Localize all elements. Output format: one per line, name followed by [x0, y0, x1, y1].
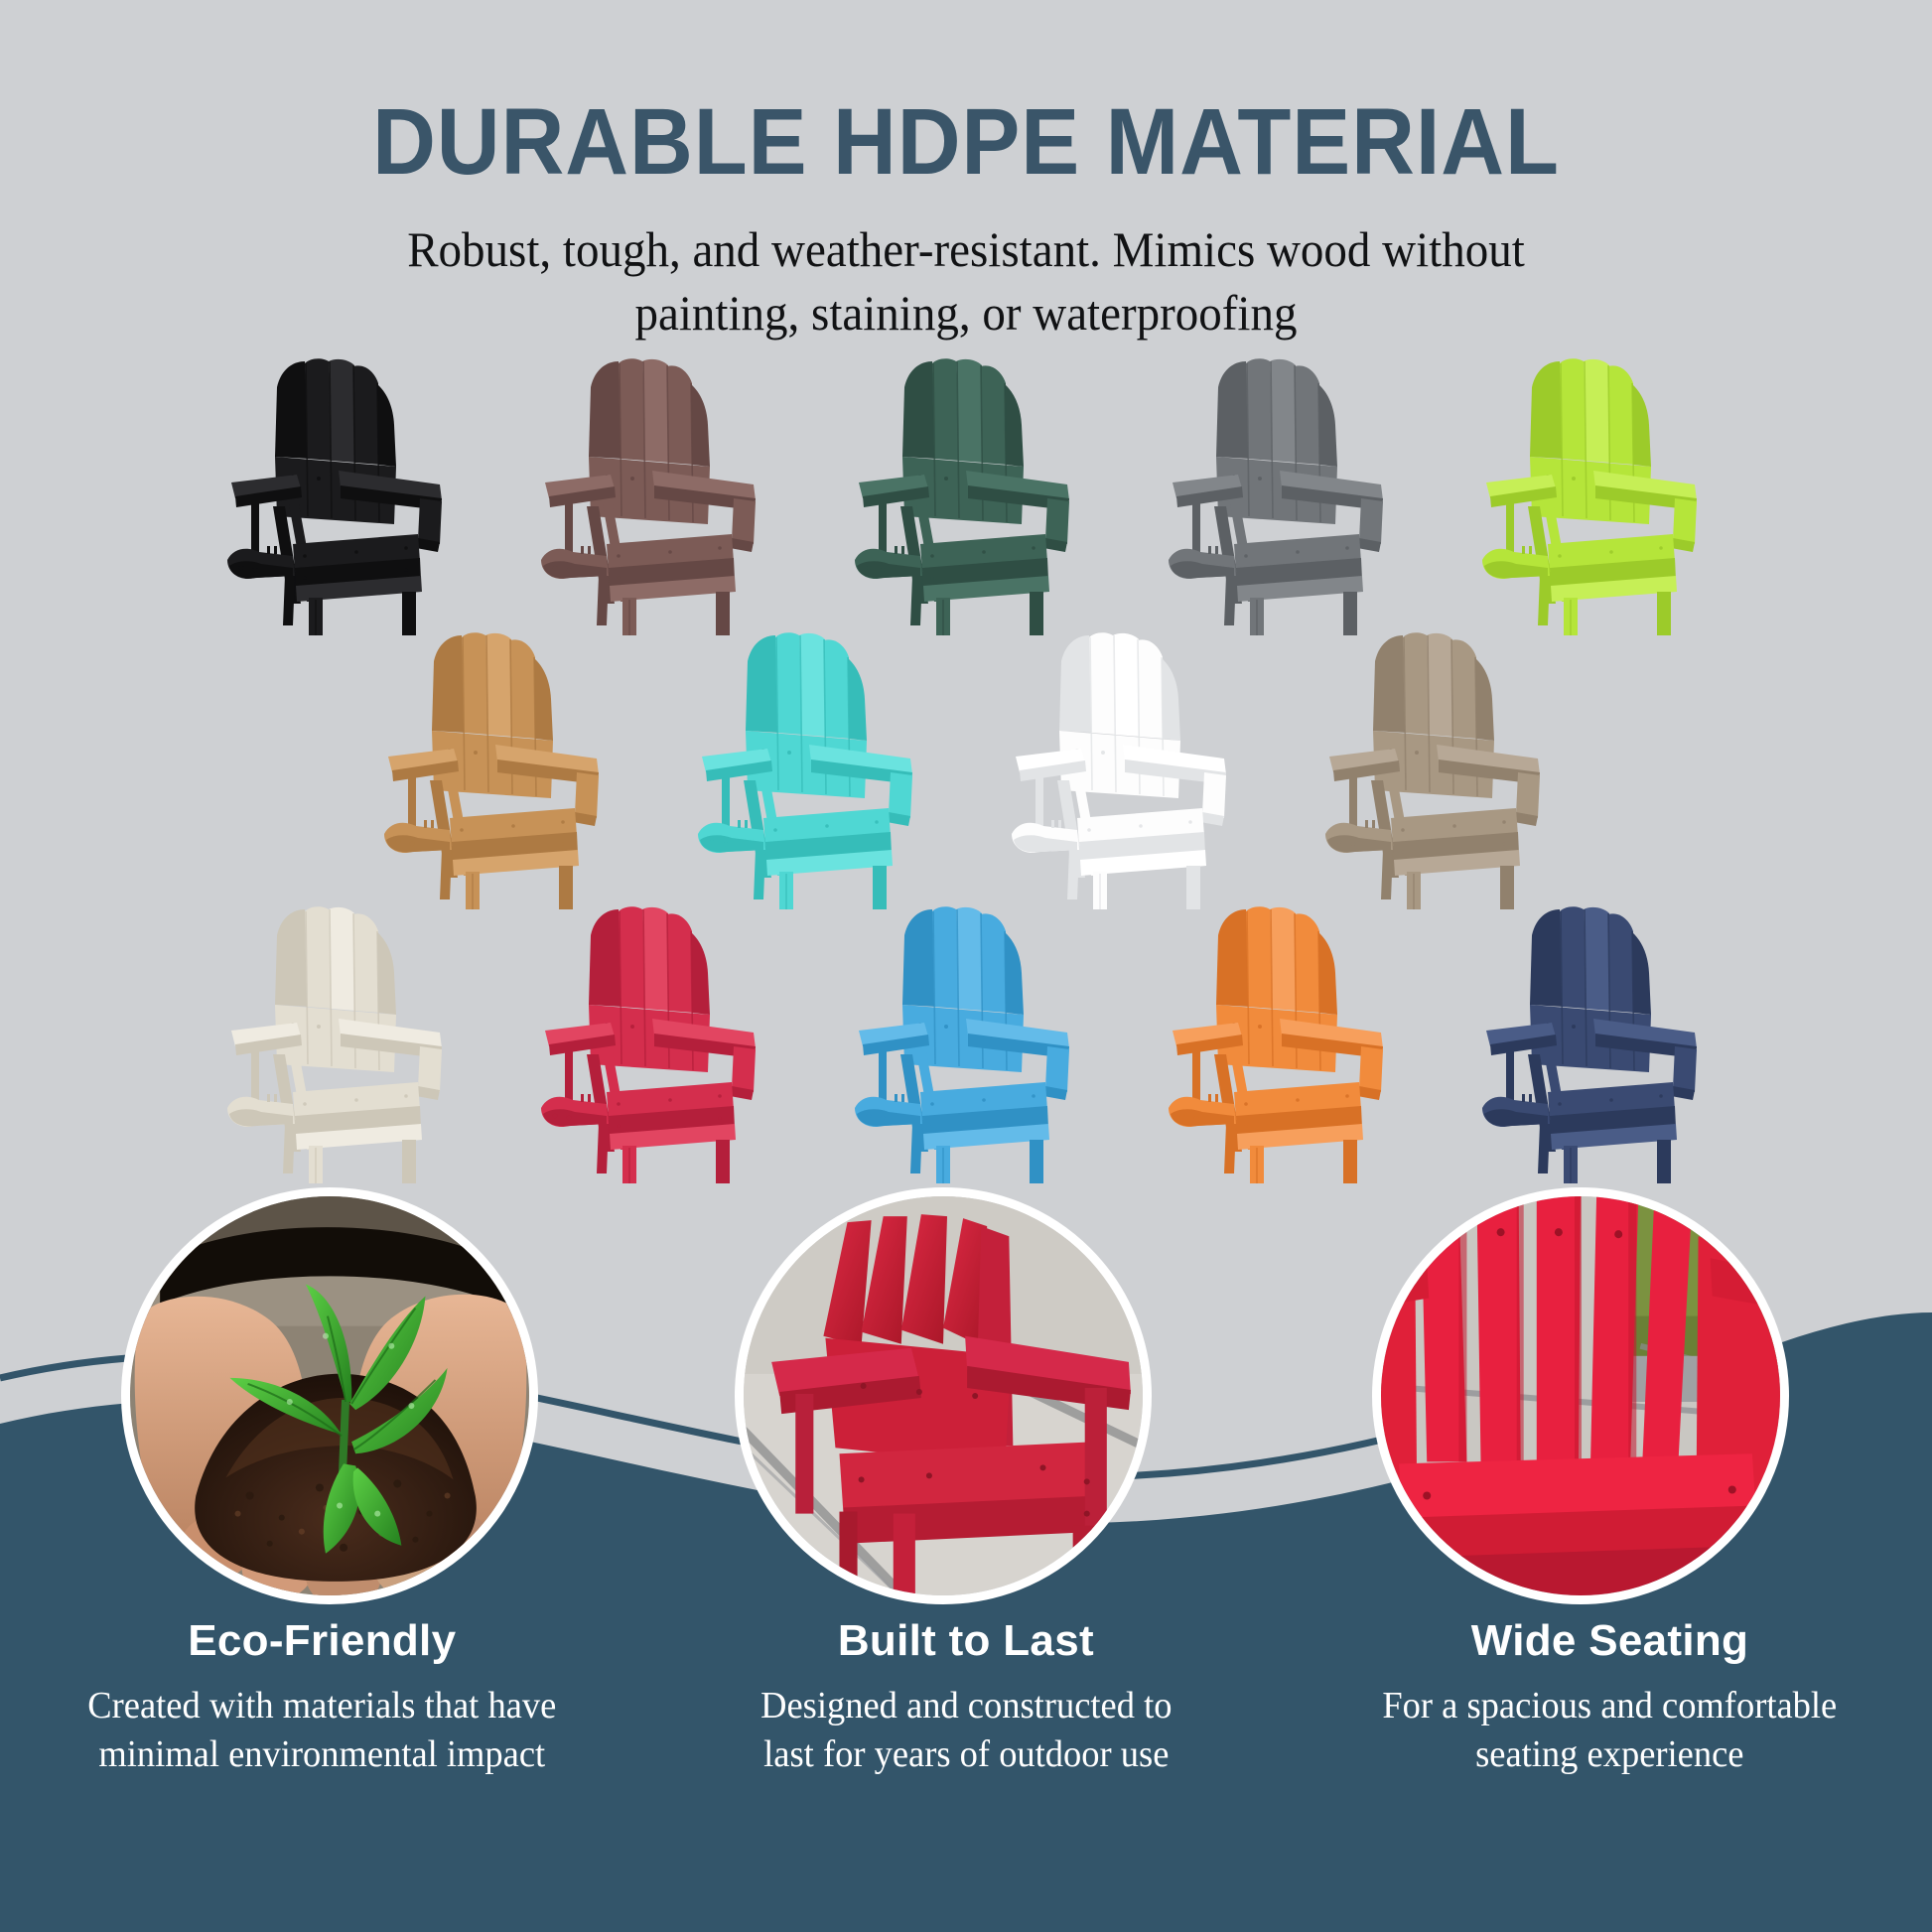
page-title: DURABLE HDPE MATERIAL	[68, 0, 1864, 190]
infographic-canvas: DURABLE HDPE MATERIAL Robust, tough, and…	[0, 0, 1932, 1932]
chair-illustration	[1445, 349, 1742, 637]
chair-swatch-brown[interactable]	[503, 349, 801, 637]
subtitle-line-1: Robust, tough, and weather-resistant. Mi…	[332, 217, 1600, 281]
chair-swatch-white[interactable]	[974, 623, 1272, 911]
circle-built-to-last	[735, 1187, 1152, 1604]
chair-swatch-weathered-wood[interactable]	[1288, 623, 1586, 911]
feature-desc-line-2: last for years of outdoor use	[763, 1733, 1169, 1775]
wide-seating-photo	[1381, 1196, 1780, 1595]
chair-swatch-black[interactable]	[190, 349, 487, 637]
chair-swatch-lime-green[interactable]	[1445, 349, 1742, 637]
circle-wide-seating	[1372, 1187, 1789, 1604]
chair-swatch-turquoise[interactable]	[660, 623, 958, 911]
built-to-last-photo	[744, 1196, 1143, 1595]
feature-title: Built to Last	[680, 1616, 1253, 1666]
circle-eco-friendly	[121, 1187, 538, 1604]
chair-illustration	[817, 349, 1115, 637]
chair-swatch-teak[interactable]	[346, 623, 644, 911]
chair-illustration	[503, 349, 801, 637]
chair-swatch-crimson-red[interactable]	[503, 897, 801, 1185]
feature-wide-seating: Wide Seating For a spacious and comforta…	[1288, 1616, 1932, 1780]
feature-eco-friendly: Eco-Friendly Created with materials that…	[0, 1616, 644, 1780]
feature-description: For a spacious and comfortable seating e…	[1335, 1682, 1885, 1780]
feature-desc-line-1: Created with materials that have	[87, 1685, 556, 1726]
chair-illustration	[1131, 349, 1429, 637]
chair-swatch-orange[interactable]	[1131, 897, 1429, 1185]
chair-illustration	[974, 623, 1272, 911]
chair-swatch-gray[interactable]	[1131, 349, 1429, 637]
feature-title: Eco-Friendly	[36, 1616, 609, 1666]
chair-swatch-navy-blue[interactable]	[1445, 897, 1742, 1185]
feature-description: Designed and constructed to last for yea…	[691, 1682, 1241, 1780]
chair-swatch-ivory[interactable]	[190, 897, 487, 1185]
feature-desc-line-2: minimal environmental impact	[98, 1733, 545, 1775]
chair-illustration	[1131, 897, 1429, 1185]
feature-desc-line-1: For a spacious and comfortable	[1383, 1685, 1838, 1726]
page-subtitle: Robust, tough, and weather-resistant. Mi…	[332, 217, 1600, 345]
chair-illustration	[190, 349, 487, 637]
feature-description: Created with materials that have minimal…	[48, 1682, 598, 1780]
feature-built-to-last: Built to Last Designed and constructed t…	[644, 1616, 1289, 1780]
chair-illustration	[190, 897, 487, 1185]
eco-friendly-photo	[130, 1196, 529, 1595]
subtitle-line-2: painting, staining, or waterproofing	[332, 281, 1600, 345]
chair-illustration	[1288, 623, 1586, 911]
chair-color-grid	[0, 349, 1932, 1185]
chair-illustration	[503, 897, 801, 1185]
feature-title: Wide Seating	[1323, 1616, 1896, 1666]
feature-desc-line-1: Designed and constructed to	[760, 1685, 1172, 1726]
chair-illustration	[817, 897, 1115, 1185]
chair-illustration	[1445, 897, 1742, 1185]
chair-swatch-light-blue[interactable]	[817, 897, 1115, 1185]
chair-illustration	[660, 623, 958, 911]
feature-list: Eco-Friendly Created with materials that…	[0, 1616, 1932, 1780]
header: DURABLE HDPE MATERIAL Robust, tough, and…	[0, 0, 1932, 345]
chair-swatch-dark-green[interactable]	[817, 349, 1115, 637]
chair-row-1	[0, 349, 1932, 637]
chair-row-3	[0, 897, 1932, 1185]
feature-desc-line-2: seating experience	[1475, 1733, 1743, 1775]
chair-row-2	[0, 623, 1932, 911]
chair-illustration	[346, 623, 644, 911]
feature-photo-circles	[0, 1187, 1932, 1604]
